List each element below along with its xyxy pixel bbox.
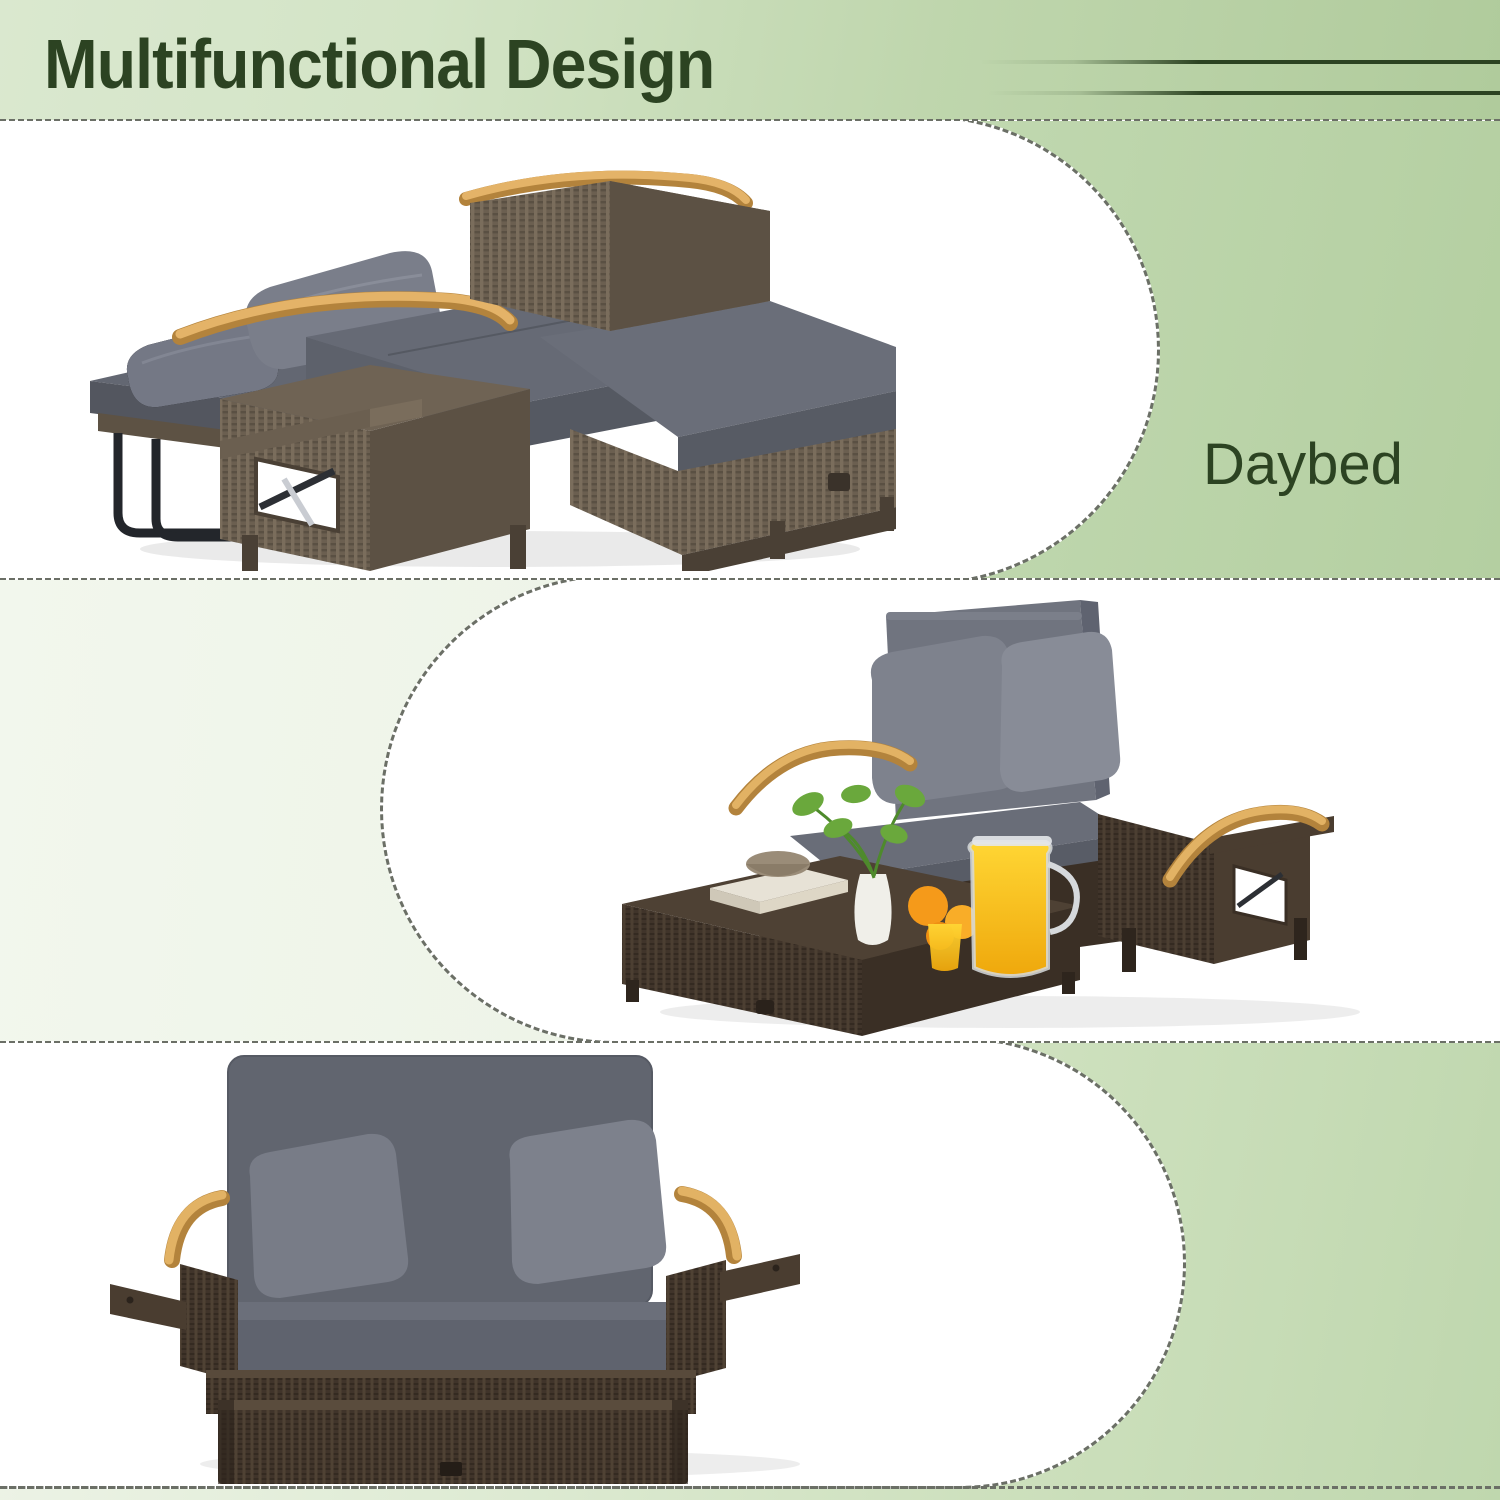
section-daybed: Daybed bbox=[0, 121, 1500, 578]
cushioned-loveseat-illustration bbox=[110, 1048, 890, 1488]
section-loveseat-coffee-table: Loveseat & Coffee Table Set bbox=[0, 580, 1500, 1041]
daybed-illustration bbox=[70, 141, 900, 571]
section-cushioned-loveseat: Cushioned Loveseat bbox=[0, 1043, 1500, 1500]
header-rule-bottom bbox=[988, 91, 1500, 95]
header-banner: Multifunctional Design bbox=[0, 0, 1500, 120]
page-title: Multifunctional Design bbox=[44, 20, 714, 108]
header-rule-top bbox=[980, 60, 1500, 64]
divider-bottom bbox=[0, 1486, 1500, 1489]
infographic-page: Multifunctional Design bbox=[0, 0, 1500, 1500]
loveseat-coffee-table-illustration bbox=[610, 588, 1400, 1038]
label-daybed: Daybed bbox=[1203, 431, 1403, 498]
